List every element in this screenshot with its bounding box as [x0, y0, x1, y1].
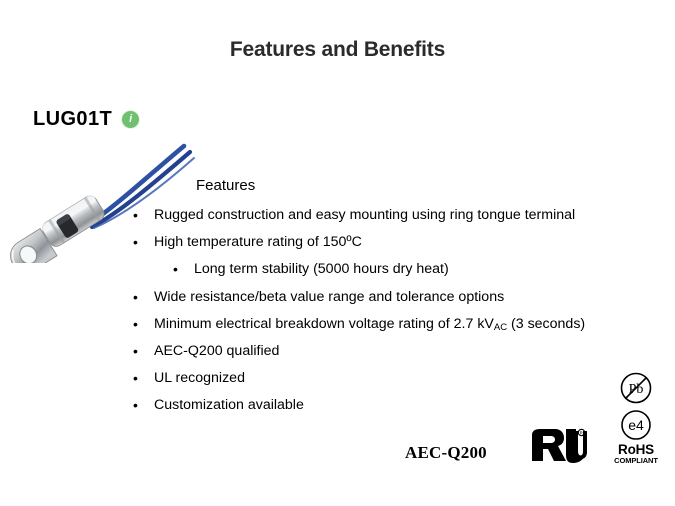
breakdown-voltage-text-pre: Minimum electrical breakdown voltage rat…	[154, 316, 494, 332]
bullet-glyph: •	[133, 235, 154, 250]
lead-free-pb-icon: Pb	[619, 371, 653, 405]
features-heading: Features	[196, 177, 255, 194]
list-item-label: Long term stability (5000 hours dry heat…	[194, 262, 449, 276]
slide-canvas: Features and Benefits LUG01T i	[0, 0, 675, 506]
list-item-label: Customization available	[154, 398, 304, 412]
bullet-glyph: •	[133, 398, 154, 413]
list-item-label: AEC-Q200 qualified	[154, 344, 279, 358]
bullet-glyph: •	[133, 290, 154, 305]
breakdown-voltage-text-post: (3 seconds)	[507, 316, 585, 332]
list-item-sub: • Long term stability (5000 hours dry he…	[173, 262, 675, 277]
list-item: • High temperature rating of 150ºC	[133, 235, 675, 250]
bullet-glyph: •	[133, 344, 154, 359]
list-item-label: Minimum electrical breakdown voltage rat…	[154, 317, 585, 331]
list-item-label: Wide resistance/beta value range and tol…	[154, 290, 504, 304]
rohs-compliance-block: Pb e4 RoHS COMPLIANT	[609, 371, 663, 465]
bullet-glyph: •	[133, 317, 154, 332]
bullet-glyph: •	[173, 262, 194, 277]
list-item: • Rugged construction and easy mounting …	[133, 208, 675, 223]
list-item-label: UL recognized	[154, 371, 245, 385]
bullet-glyph: •	[133, 208, 154, 223]
list-item: • Wide resistance/beta value range and t…	[133, 290, 675, 305]
svg-text:e4: e4	[628, 417, 644, 433]
list-item: • UL recognized	[133, 371, 675, 386]
page-title: Features and Benefits	[0, 38, 675, 62]
svg-text:R: R	[580, 431, 583, 436]
rohs-label: RoHS	[609, 443, 663, 457]
svg-text:Pb: Pb	[629, 382, 644, 397]
info-icon[interactable]: i	[122, 111, 139, 128]
list-item-label: Rugged construction and easy mounting us…	[154, 208, 575, 222]
bullet-glyph: •	[133, 371, 154, 386]
breakdown-voltage-subscript: AC	[494, 322, 507, 333]
e4-mark-icon: e4	[619, 408, 653, 442]
list-item-label: High temperature rating of 150ºC	[154, 235, 362, 249]
list-item: • AEC-Q200 qualified	[133, 344, 675, 359]
list-item-breakdown-voltage: • Minimum electrical breakdown voltage r…	[133, 317, 675, 332]
features-list: • Rugged construction and easy mounting …	[133, 208, 675, 426]
rohs-compliant-label: COMPLIANT	[609, 457, 663, 465]
ul-recognized-icon: R	[528, 427, 588, 469]
aec-q200-logo: AEC-Q200	[405, 443, 487, 463]
list-item: • Customization available	[133, 398, 675, 413]
